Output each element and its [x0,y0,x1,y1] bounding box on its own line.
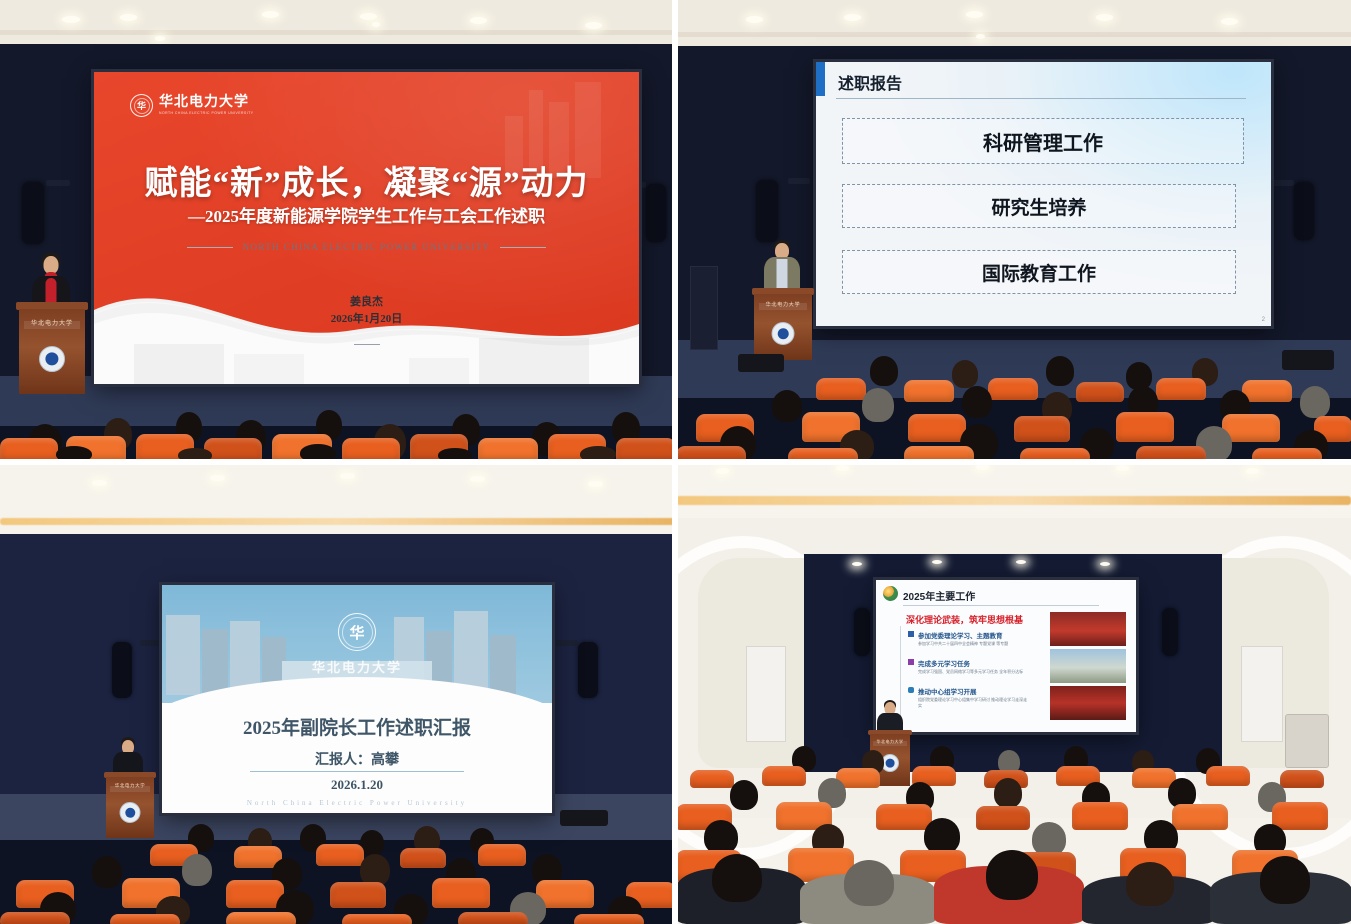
ceiling-light-icon [746,16,763,23]
loudspeaker-icon [646,184,666,242]
projection-screen: 华 华北电力大学 NORTH CHINA ELECTRIC POWER UNIV… [94,72,639,384]
side-door [746,646,786,742]
ceiling-light-icon [1221,18,1238,25]
audience-area [0,824,676,924]
slide-photo-strip [1050,612,1126,720]
podium-label: 华北电力大学 [16,318,88,327]
ceiling-light-icon [470,17,487,24]
agenda-item-1[interactable]: 科研管理工作 [842,118,1244,164]
slide-bullet-3-detail: 组织院党委理论学习中心组集中学习研讨 推动理论学习走深走实 [918,697,1028,709]
ceiling-light-icon [588,481,603,487]
slide-english-text: NORTH CHINA ELECTRIC POWER UNIVERSITY [243,242,491,252]
ceiling-light-icon [470,476,485,482]
slide-main-title: 2025年副院长工作述职汇报 [162,713,552,740]
slide-bullet-2: 完成多元学习任务 [908,658,970,668]
campus-logo: 华 华北电力大学 [312,613,402,676]
ceiling-light-icon [62,16,80,23]
ceiling-light-icon [976,34,985,39]
collage-gutter-horizontal [0,459,1351,465]
slide-bullet-3: 推动中心组学习开展 [908,686,977,696]
party-emblem-icon [883,586,898,601]
slide-title-campus: 华 华北电力大学 2025年副院长工作述职汇报 汇报人：高攀 2026.1.20… [162,585,552,813]
slide-title: 述职报告 [838,70,902,94]
ceiling-light-icon [340,473,355,479]
university-name-en: NORTH CHINA ELECTRIC POWER UNIVERSITY [159,110,254,116]
podium-label: 华北电力大学 [868,739,912,745]
university-emblem-icon [772,322,795,345]
audience-area [676,356,1351,462]
panel-top-left: 华 华北电力大学 NORTH CHINA ELECTRIC POWER UNIV… [0,0,676,462]
university-emblem-icon [120,802,141,823]
loudspeaker-icon [112,642,132,698]
slide-english-line: NORTH CHINA ELECTRIC POWER UNIVERSITY [94,242,639,252]
slide-title-red: 华 华北电力大学 NORTH CHINA ELECTRIC POWER UNIV… [94,72,639,384]
ceiling-light-icon [120,14,137,21]
slide-bullet-label: 参加党委理论学习、主题教育 [918,630,1003,640]
slide-bullet-1-detail: 参加学习中共二十届四中全会精神 专题党课 等专题 [918,641,1028,647]
ceiling-light-icon [1116,465,1129,471]
loudspeaker-icon [22,182,44,244]
campus-logo-text: 华北电力大学 [312,657,402,676]
loudspeaker-icon [1162,608,1178,656]
people-bullet-icon [908,687,914,693]
university-logo: 华 华北电力大学 NORTH CHINA ELECTRIC POWER UNIV… [130,94,254,117]
slide-section-heading: 深化理论武装，筑牢思想根基 [906,613,1023,626]
loudspeaker-icon [1294,182,1314,240]
slide-presenter-block: 姜良杰 2026年1月20日 [94,294,639,327]
slide-presenter-date: 2026年1月20日 [94,311,639,328]
slide-page-number: 2 [1262,317,1265,323]
slide-bullet-label: 完成多元学习任务 [918,658,970,668]
ceiling-light-icon [360,13,377,20]
projection-screen: 2025年主要工作 深化理论武装，筑牢思想根基 参加党委理论学习、主题教育 参加… [876,580,1136,732]
slide-date: 2026.1.20 [162,777,552,793]
flag-bullet-icon [908,659,914,665]
university-seal-icon: 华 [130,94,153,117]
ceiling-light-icon [844,14,861,21]
ceiling-light-icon [1246,468,1259,474]
podium: 华北电力大学 [752,288,814,360]
loudspeaker-icon [756,180,778,242]
ceiling-light-icon [716,468,729,474]
audience-area [0,398,676,462]
agenda-item-label: 科研管理工作 [983,127,1103,156]
ceiling-light-icon [932,560,942,564]
slide-bullet-label: 推动中心组学习开展 [918,686,977,696]
ceiling-light-icon [966,11,983,18]
audience-area [676,746,1351,924]
slide-presenter-label: 汇报人：高攀 [162,749,552,769]
slide-photo [1050,649,1126,683]
ceiling-light-icon [155,36,165,41]
side-door [690,266,718,350]
university-emblem-icon [39,346,65,372]
ceiling-light-icon [1016,560,1026,564]
ceiling-light-icon [852,562,862,566]
agenda-item-label: 国际教育工作 [982,259,1096,286]
agenda-item-2[interactable]: 研究生培养 [842,184,1236,228]
slide-agenda: 述职报告 科研管理工作 研究生培养 国际教育工作 2 [816,62,1271,326]
ceiling-light-icon [262,11,279,18]
side-door [1241,646,1283,742]
projection-screen: 华 华北电力大学 2025年副院长工作述职汇报 汇报人：高攀 2026.1.20… [162,585,552,813]
slide-photo [1050,686,1126,720]
panel-top-right: 述职报告 科研管理工作 研究生培养 国际教育工作 2 [676,0,1351,462]
podium-label: 华北电力大学 [752,301,814,308]
slide-main-title: 赋能“新”成长，凝聚“源”动力 [94,156,639,204]
slide-content-work: 2025年主要工作 深化理论武装，筑牢思想根基 参加党委理论学习、主题教育 参加… [876,580,1136,732]
loudspeaker-icon [854,608,870,656]
slide-accent-bar [816,62,825,96]
slide-title: 2025年主要工作 [903,588,975,603]
university-name-cn: 华北电力大学 [159,95,254,110]
ceiling-light-icon [1096,14,1113,21]
ceiling-light-icon [210,475,225,481]
ceiling-light-icon [1100,562,1110,566]
slide-bullet-2-detail: 完成学习强国、党员网络学习等多元学习任务 全年积分达标 [918,669,1028,675]
podium-label: 华北电力大学 [104,783,156,789]
ceiling-light-icon [92,480,107,486]
agenda-item-3[interactable]: 国际教育工作 [842,250,1236,294]
slide-subtitle: —2025年度新能源学院学生工作与工会工作述职 [94,202,639,227]
slide-presenter-name: 姜良杰 [94,294,639,311]
panel-bottom-right: 2025年主要工作 深化理论武装，筑牢思想根基 参加党委理论学习、主题教育 参加… [676,462,1351,924]
podium: 华北电力大学 [16,302,88,394]
ceiling-light-icon [372,22,380,27]
photo-collage: 华 华北电力大学 NORTH CHINA ELECTRIC POWER UNIV… [0,0,1351,924]
agenda-item-label: 研究生培养 [991,193,1086,220]
projection-screen: 述职报告 科研管理工作 研究生培养 国际教育工作 2 [816,62,1271,326]
ceiling-light-icon [585,22,602,29]
ceiling-light-icon [836,465,849,471]
university-seal-icon: 华 [338,613,376,651]
slide-photo [1050,612,1126,646]
panel-bottom-left: 华 华北电力大学 2025年副院长工作述职汇报 汇报人：高攀 2026.1.20… [0,462,676,924]
square-bullet-icon [908,631,914,637]
slide-bullet-1: 参加党委理论学习、主题教育 [908,630,1003,640]
loudspeaker-icon [578,642,598,698]
slide-english-line: North China Electric Power University [162,799,552,807]
